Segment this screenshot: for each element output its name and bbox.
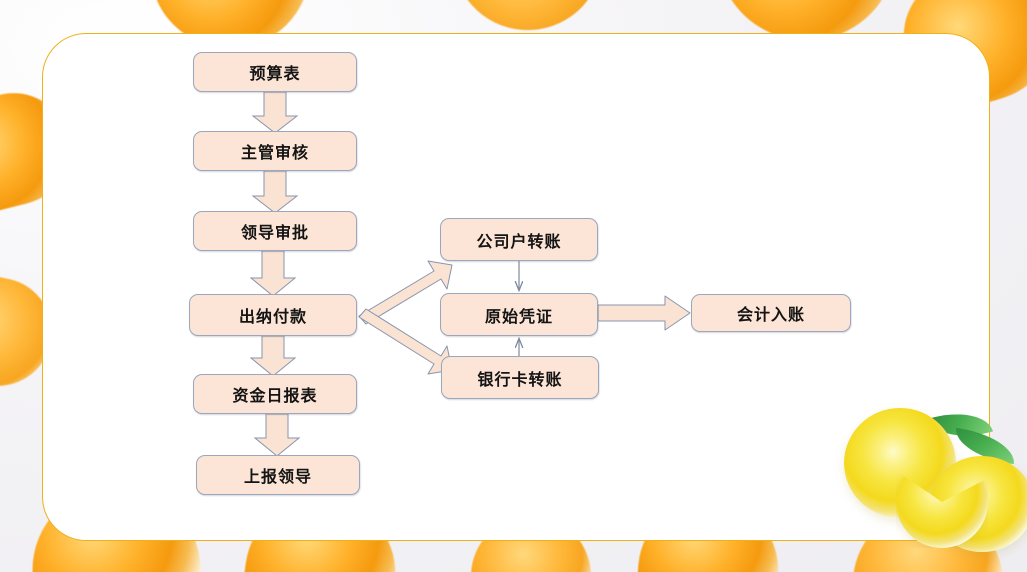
node-budget[interactable]: 预算表 xyxy=(193,52,357,92)
node-label: 主管审核 xyxy=(241,139,309,163)
node-label: 上报领导 xyxy=(244,463,312,487)
edge-daily-report-to-report-leader xyxy=(255,414,299,456)
edge-budget-to-supervisor xyxy=(253,92,297,133)
node-daily-fund-report[interactable]: 资金日报表 xyxy=(193,374,357,414)
node-label: 出纳付款 xyxy=(239,303,307,327)
flowchart: 预算表 主管审核 领导审批 出纳付款 资金日报表 上报领导 公司户转账 原始凭证… xyxy=(0,0,1027,572)
edge-original-voucher-to-accounting xyxy=(598,296,690,330)
edge-supervisor-to-leader-approve xyxy=(253,171,297,213)
node-company-account-transfer[interactable]: 公司户转账 xyxy=(440,218,598,261)
node-original-voucher[interactable]: 原始凭证 xyxy=(440,293,598,336)
node-label: 领导审批 xyxy=(241,219,309,243)
flowchart-connectors xyxy=(0,0,1027,572)
edge-cashier-pay-to-company-transfer xyxy=(359,261,452,324)
node-label: 资金日报表 xyxy=(232,382,317,406)
node-label: 银行卡转账 xyxy=(477,366,562,390)
edge-leader-approve-to-cashier-pay xyxy=(251,251,295,296)
node-supervisor-review[interactable]: 主管审核 xyxy=(193,131,357,171)
edge-cashier-pay-to-bank-transfer xyxy=(359,309,452,374)
node-cashier-payment[interactable]: 出纳付款 xyxy=(189,294,357,336)
node-label: 会计入账 xyxy=(737,301,805,325)
edge-cashier-pay-to-daily-report xyxy=(251,336,295,376)
node-label: 公司户转账 xyxy=(476,228,561,252)
node-bank-card-transfer[interactable]: 银行卡转账 xyxy=(441,356,599,399)
node-accounting-entry[interactable]: 会计入账 xyxy=(691,294,851,332)
node-leader-approval[interactable]: 领导审批 xyxy=(193,211,357,251)
node-label: 预算表 xyxy=(249,60,300,84)
node-label: 原始凭证 xyxy=(485,303,553,327)
node-report-to-leader[interactable]: 上报领导 xyxy=(196,455,360,495)
